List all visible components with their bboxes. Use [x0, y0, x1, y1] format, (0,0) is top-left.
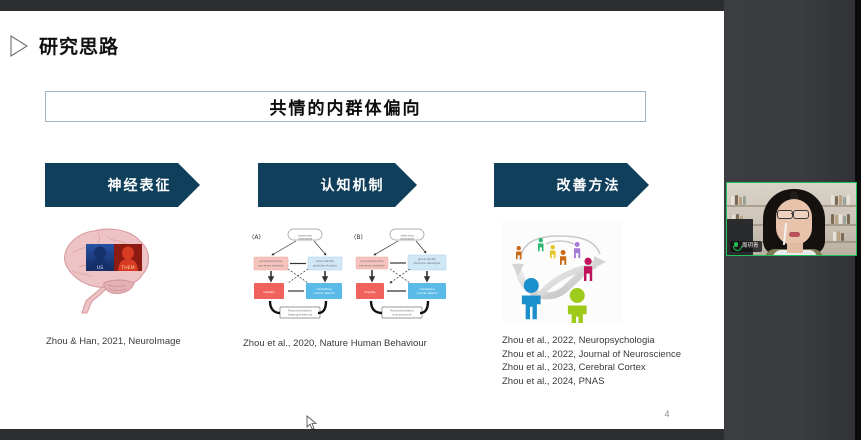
- svg-text:Prosocial behavior: Prosocial behavior: [288, 309, 313, 313]
- svg-text:individuals: individuals: [400, 237, 415, 241]
- banner-label: 神经表征: [108, 175, 172, 195]
- reference-item: Zhou & Han, 2021, NeuroImage: [46, 335, 181, 349]
- svg-text:mentalizing: mentalizing: [316, 287, 332, 291]
- book: [841, 233, 844, 241]
- microphone-icon: [732, 242, 740, 251]
- book: [837, 231, 840, 241]
- svg-text:perceived similarity: perceived similarity: [359, 264, 385, 268]
- svg-text:cortical network: cortical network: [314, 291, 335, 295]
- reference-item: Zhou et al., 2022, Neuropsychologia: [502, 334, 681, 348]
- topic-box: 共情的内群体偏向: [45, 91, 646, 122]
- svg-text:perceived similarity: perceived similarity: [258, 264, 284, 268]
- eyeglasses-right-lens: [793, 210, 809, 219]
- book: [843, 197, 846, 205]
- book: [847, 214, 850, 224]
- svg-text:perceived kinship: perceived kinship: [361, 259, 384, 263]
- references-column-3: Zhou et al., 2022, Neuropsychologia Zhou…: [502, 334, 681, 388]
- book: [839, 195, 842, 205]
- reference-item: Zhou et al., 2020, Nature Human Behaviou…: [243, 337, 427, 351]
- svg-text:cortical network: cortical network: [417, 291, 438, 295]
- svg-text:(helping tendency): (helping tendency): [288, 313, 313, 317]
- participant-person: [763, 189, 825, 256]
- book: [847, 195, 850, 205]
- social-network-people-figure: [502, 220, 622, 323]
- book: [831, 195, 834, 205]
- svg-text:mentalizing: mentalizing: [419, 287, 435, 291]
- svg-text:group identity: group identity: [418, 257, 437, 261]
- book: [743, 196, 746, 205]
- book: [843, 216, 846, 224]
- face: [776, 199, 812, 245]
- svg-text:empathy: empathy: [364, 290, 376, 294]
- eyeglasses-bridge: [791, 213, 794, 214]
- banner-neural-representation[interactable]: 神经表征: [45, 163, 250, 207]
- neck: [787, 243, 803, 253]
- panel-label-b: (B): [354, 234, 363, 241]
- participant-name-chip: 周玥青: [730, 241, 762, 252]
- window-bottom-bar: [0, 429, 724, 440]
- eyeglasses-left-lens: [777, 210, 793, 219]
- book: [739, 197, 742, 205]
- svg-text:empathy: empathy: [263, 290, 275, 294]
- banner-cognitive-mechanism[interactable]: 认知机制: [258, 163, 463, 207]
- svg-text:Prosocial behavior: Prosocial behavior: [390, 309, 415, 313]
- cognitive-model-diagram: (A): [244, 223, 449, 323]
- banner-improvement-methods[interactable]: 改善方法: [494, 163, 699, 207]
- book: [831, 214, 834, 224]
- references-column-2: Zhou et al., 2020, Nature Human Behaviou…: [243, 337, 427, 351]
- brain-us-them-figure: US THEM: [46, 217, 176, 321]
- svg-text:prejudice stereotype: prejudice stereotype: [414, 261, 441, 265]
- book: [735, 195, 738, 205]
- mouth: [789, 232, 800, 237]
- svg-text:social identity: social identity: [316, 259, 335, 263]
- reference-item: Zhou et al., 2024, PNAS: [502, 375, 681, 389]
- book: [835, 215, 838, 224]
- banner-label: 认知机制: [321, 175, 385, 195]
- participant-video-tile[interactable]: 周玥青: [726, 182, 857, 256]
- slide-page-number: 4: [655, 409, 679, 419]
- book: [839, 214, 842, 224]
- window-top-bar: [0, 0, 724, 11]
- svg-text:US: US: [97, 265, 103, 271]
- svg-text:individuals: individuals: [298, 237, 313, 241]
- screen-root: 研究思路 共情的内群体偏向 神经表征: [0, 0, 861, 440]
- panel-label-a: (A): [252, 234, 261, 241]
- book: [835, 196, 838, 205]
- column-improvement-methods: 改善方法: [494, 163, 699, 207]
- participant-name: 周玥青: [742, 241, 759, 252]
- slide-header: 研究思路: [10, 32, 119, 59]
- topic-box-label: 共情的内群体偏向: [270, 94, 422, 119]
- reference-item: Zhou et al., 2023, Cerebral Cortex: [502, 361, 681, 375]
- banner-label: 改善方法: [557, 175, 621, 195]
- book: [731, 196, 734, 205]
- reference-item: Zhou et al., 2022, Journal of Neuroscien…: [502, 348, 681, 362]
- triangle-outline-icon: [10, 35, 28, 57]
- column-cognitive-mechanism: 认知机制: [258, 163, 463, 207]
- svg-text:perceived kinship: perceived kinship: [260, 259, 283, 263]
- presentation-slide[interactable]: 研究思路 共情的内群体偏向 神经表征: [0, 11, 724, 429]
- book: [833, 232, 836, 241]
- svg-text:prediction function: prediction function: [313, 264, 338, 268]
- references-column-1: Zhou & Han, 2021, NeuroImage: [46, 335, 181, 349]
- column-neural-representation: 神经表征: [45, 163, 250, 207]
- svg-text:THEM: THEM: [120, 265, 134, 271]
- svg-text:(low prosocial): (low prosocial): [393, 313, 412, 317]
- page-title: 研究思路: [39, 32, 119, 59]
